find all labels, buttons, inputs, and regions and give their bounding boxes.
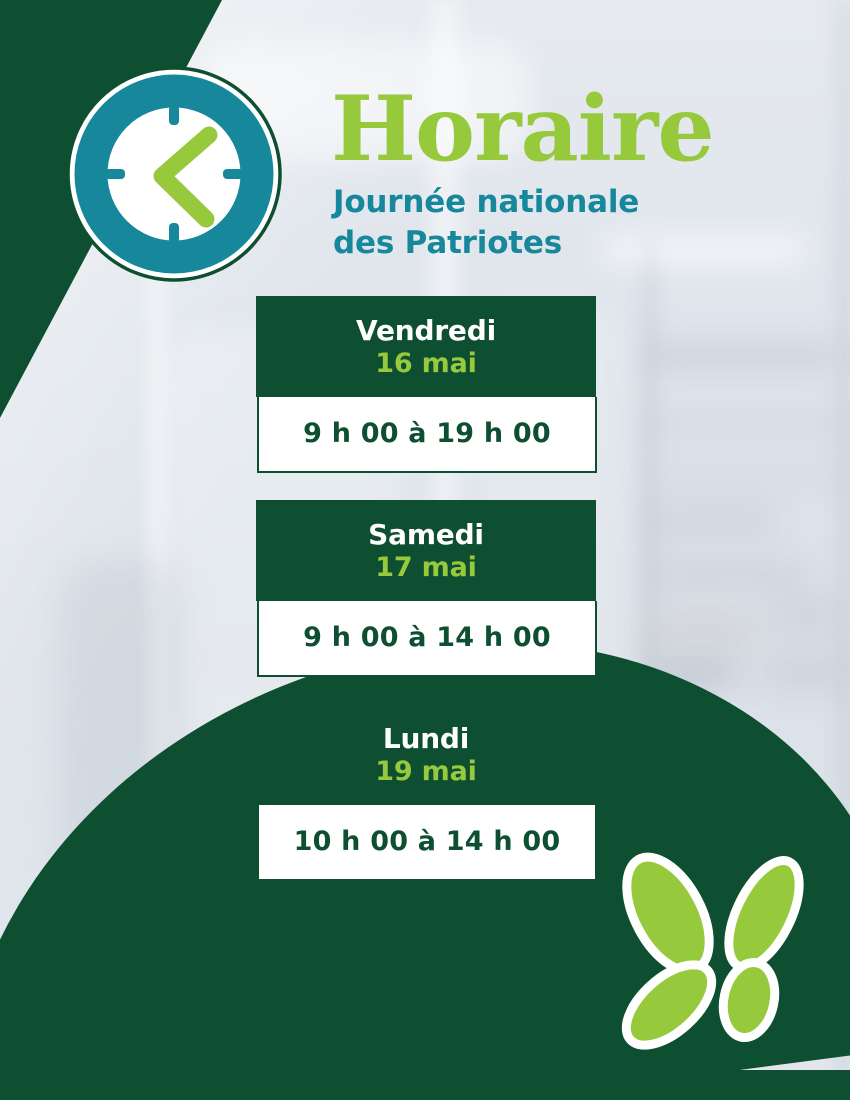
schedule-card: Vendredi 16 mai 9 h 00 à 19 h 00 [256, 296, 596, 473]
page-subtitle-line-1: Journée nationale [333, 182, 791, 223]
schedule-card-header: Lundi 19 mai [256, 704, 596, 805]
schedule-card-day: Lundi [256, 722, 596, 756]
page-subtitle-line-2: des Patriotes [333, 223, 791, 264]
schedule-list: Vendredi 16 mai 9 h 00 à 19 h 00 Samedi … [256, 296, 596, 908]
photo-blur-shelf-7 [770, 600, 840, 630]
clock-icon [66, 66, 282, 282]
schedule-card-hours: 10 h 00 à 14 h 00 [257, 805, 597, 881]
photo-blur-shelf-4 [648, 512, 778, 530]
butterfly-logo-icon [612, 852, 840, 1067]
photo-blur-shelf-9 [760, 655, 848, 689]
schedule-card-hours: 9 h 00 à 19 h 00 [257, 397, 597, 473]
schedule-card-day: Vendredi [256, 314, 596, 348]
photo-blur-shelf-5 [648, 565, 808, 585]
page-subtitle: Journée nationale des Patriotes [333, 182, 791, 264]
schedule-card-hours: 9 h 00 à 14 h 00 [257, 601, 597, 677]
photo-blur-shelf-3 [648, 472, 848, 482]
schedule-card-header: Samedi 17 mai [256, 500, 596, 601]
schedule-card: Samedi 17 mai 9 h 00 à 14 h 00 [256, 500, 596, 677]
page-title: Horaire [331, 86, 791, 172]
schedule-card-date: 19 mai [256, 756, 596, 789]
schedule-card: Lundi 19 mai 10 h 00 à 14 h 00 [256, 704, 596, 881]
photo-blur-shelf-1 [648, 345, 838, 367]
header-block: Horaire Journée nationale des Patriotes [331, 86, 791, 264]
poster: Horaire Journée nationale des Patriotes … [0, 0, 850, 1100]
background-green-bottom-edge [0, 1070, 850, 1100]
schedule-card-day: Samedi [256, 518, 596, 552]
schedule-card-date: 17 mai [256, 552, 596, 585]
photo-blur-shelf-6 [648, 618, 758, 640]
photo-blur-shelf-2 [648, 418, 848, 430]
schedule-card-date: 16 mai [256, 348, 596, 381]
schedule-card-header: Vendredi 16 mai [256, 296, 596, 397]
